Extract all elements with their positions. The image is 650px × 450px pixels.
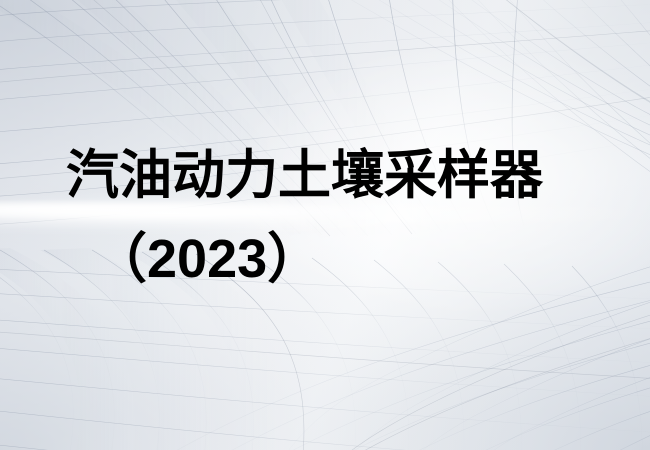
page-title: 汽油动力土壤采样器: [66, 149, 543, 202]
title-block: 汽油动力土壤采样器 （2023）: [0, 0, 650, 450]
page-subtitle-year: （2023）: [93, 232, 321, 286]
title-slide: 汽油动力土壤采样器 （2023）: [0, 0, 650, 450]
